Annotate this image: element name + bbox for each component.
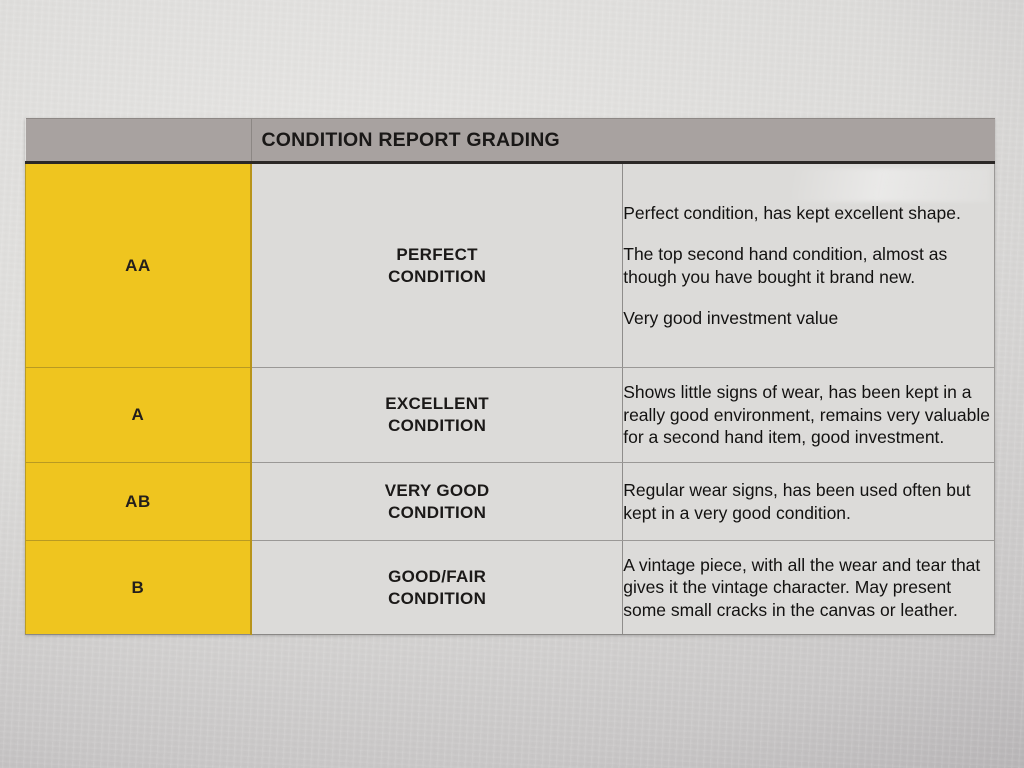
condition-name-line-1: EXCELLENT (385, 393, 489, 415)
table-header-row: CONDITION REPORT GRADING (26, 119, 995, 163)
grade-cell-ab: AB (26, 463, 252, 541)
table-row: AB VERY GOOD CONDITION Regular wear sign… (26, 463, 995, 541)
header-left-blank-cell (26, 119, 252, 163)
table-row: B GOOD/FAIR CONDITION A vintage piece, w… (26, 541, 995, 635)
description-paragraph: The top second hand condition, almost as… (623, 243, 994, 288)
page-title: CONDITION REPORT GRADING (252, 129, 995, 152)
description-paragraph: Perfect condition, has kept excellent sh… (623, 202, 994, 224)
grade-label: AB (125, 492, 151, 511)
description-cell-ab: Regular wear signs, has been used often … (623, 463, 995, 541)
condition-name-line-1: VERY GOOD (385, 480, 490, 502)
condition-name-line-2: CONDITION (388, 502, 486, 524)
grade-cell-aa: AA (26, 163, 252, 368)
description-cell-a: Shows little signs of wear, has been kep… (623, 368, 995, 463)
description-cell-aa: Perfect condition, has kept excellent sh… (623, 163, 995, 368)
table-body: AA PERFECT CONDITION Perfect condition, … (26, 163, 995, 635)
description-paragraph: Shows little signs of wear, has been kep… (623, 381, 994, 448)
grade-cell-a: A (26, 368, 252, 463)
description-paragraph: A vintage piece, with all the wear and t… (623, 554, 994, 621)
grade-label: A (132, 405, 145, 424)
condition-name-line-2: CONDITION (388, 266, 486, 288)
condition-name-cell-very-good: VERY GOOD CONDITION (251, 463, 623, 541)
grade-cell-b: B (26, 541, 252, 635)
condition-name-cell-perfect: PERFECT CONDITION (251, 163, 623, 368)
condition-name-line-2: CONDITION (388, 415, 486, 437)
condition-name-cell-excellent: EXCELLENT CONDITION (251, 368, 623, 463)
description-cell-b: A vintage piece, with all the wear and t… (623, 541, 995, 635)
header-title-cell: CONDITION REPORT GRADING (251, 119, 995, 163)
grade-label: AA (125, 256, 151, 275)
table-row: A EXCELLENT CONDITION Shows little signs… (26, 368, 995, 463)
grade-label: B (132, 578, 145, 597)
condition-name-line-1: PERFECT (396, 244, 477, 266)
description-paragraph: Regular wear signs, has been used often … (623, 479, 994, 524)
condition-name-cell-good-fair: GOOD/FAIR CONDITION (251, 541, 623, 635)
condition-report-grading-table: CONDITION REPORT GRADING AA PERFECT COND… (25, 118, 995, 635)
description-paragraph: Very good investment value (623, 307, 994, 329)
condition-name-line-2: CONDITION (388, 588, 486, 610)
table-row: AA PERFECT CONDITION Perfect condition, … (26, 163, 995, 368)
condition-name-line-1: GOOD/FAIR (388, 566, 486, 588)
